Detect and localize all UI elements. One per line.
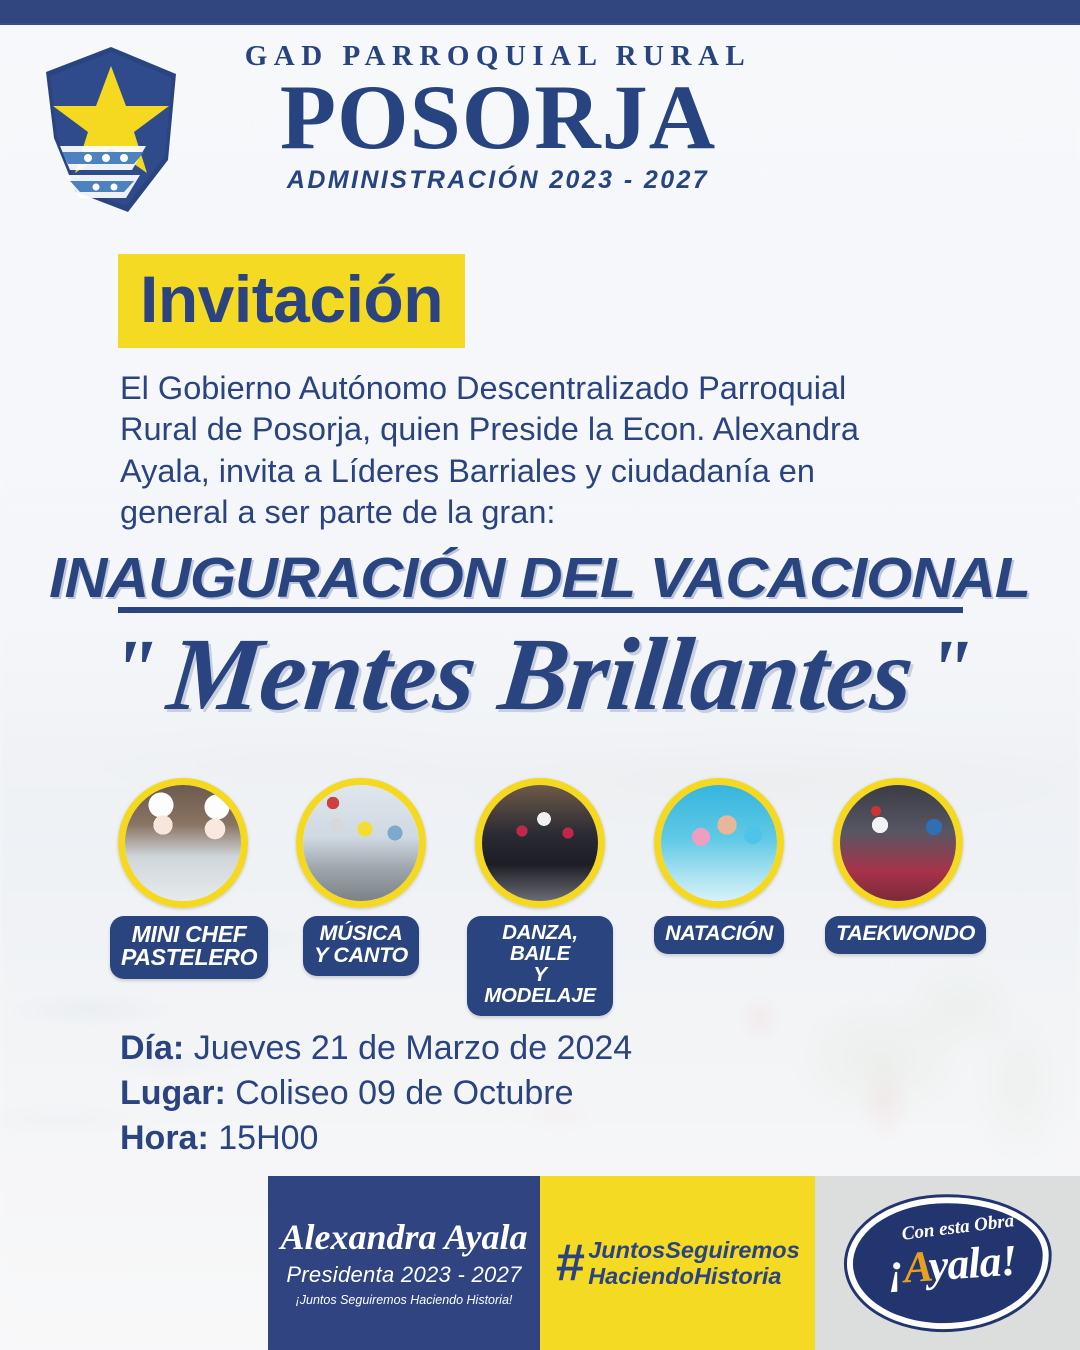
brand-lockup: GAD PARROQUIAL RURAL POSORJA ADMINISTRAC… — [188, 40, 808, 195]
activity-photo-circle — [833, 778, 963, 908]
ayala-sticker-logo: Con esta Obra ¡Ayala! — [853, 1203, 1043, 1323]
detail-value: 15H00 — [218, 1119, 318, 1157]
event-details: Día: Jueves 21 de Marzo de 2024 Lugar: C… — [120, 1026, 632, 1162]
activity-label: DANZA, BAILE Y MODELAJE — [467, 916, 613, 1016]
poster-canvas: GAD PARROQUIAL RURAL POSORJA ADMINISTRAC… — [0, 0, 1080, 1350]
activity-label: NATACIÓN — [654, 916, 784, 954]
invitation-badge-wrap: Invitación — [118, 254, 465, 348]
paragraph-line: Rural de Posorja, quien Preside la Econ.… — [120, 409, 982, 450]
headline-script-wrap: " Mentes Brillantes " — [0, 615, 1080, 734]
detail-row-place: Lugar: Coliseo 09 de Octubre — [120, 1071, 632, 1116]
quote-close-mark: " — [926, 619, 970, 719]
headline-text: INAUGURACIÓN DEL VACACIONAL — [50, 545, 1031, 611]
taekwondo-match-photo — [840, 785, 956, 901]
activity-item[interactable]: DANZA, BAILE Y MODELAJE — [467, 778, 613, 1016]
sticker-suffix: yala! — [927, 1236, 1018, 1291]
hashtag-text: JuntosSeguiremos HaciendoHistoria — [588, 1237, 800, 1290]
quote-open-mark: " — [110, 619, 154, 719]
activity-photo-circle — [118, 778, 248, 908]
headline-primary: INAUGURACIÓN DEL VACACIONAL — [0, 545, 1080, 611]
detail-key: Lugar: — [120, 1074, 226, 1112]
signature-name: Alexandra Ayala — [280, 1219, 527, 1255]
detail-value: Coliseo 09 de Octubre — [235, 1074, 573, 1112]
kids-folk-dance-photo — [482, 785, 598, 901]
detail-value: Jueves 21 de Marzo de 2024 — [194, 1029, 633, 1067]
activity-photo-circle — [654, 778, 784, 908]
sticker-highlight-letter: A — [901, 1242, 929, 1293]
activity-item[interactable]: NATACIÓN — [646, 778, 792, 954]
brand-line-administration: ADMINISTRACIÓN 2023 - 2027 — [188, 166, 808, 195]
activity-item[interactable]: MÚSICA Y CANTO — [288, 778, 434, 976]
paragraph-line: El Gobierno Autónomo Descentralizado Par… — [120, 368, 982, 409]
activity-photo-circle — [475, 778, 605, 908]
invitation-paragraph: El Gobierno Autónomo Descentralizado Par… — [120, 368, 982, 533]
activity-photo-circle — [296, 778, 426, 908]
shield-star-icon — [36, 42, 186, 222]
footer-sticker-panel: Con esta Obra ¡Ayala! — [815, 1176, 1080, 1350]
activity-label: MÚSICA Y CANTO — [303, 916, 419, 976]
footer-hashtag-panel: # JuntosSeguiremos HaciendoHistoria — [540, 1176, 815, 1350]
paragraph-line: Ayala, invita a Líderes Barriales y ciud… — [120, 451, 982, 492]
kids-music-class-photo — [303, 785, 419, 901]
headline-underline-rule — [118, 607, 963, 613]
paragraph-line: general a ser parte de la gran: — [120, 492, 982, 533]
signature-slogan: ¡Juntos Seguiremos Haciendo Historia! — [296, 1293, 513, 1307]
kids-baking-photo — [125, 785, 241, 901]
activities-row: MINI CHEF PASTELERO MÚSICA Y CANTO DANZA… — [110, 778, 990, 988]
program-name-script: Mentes Brillantes — [152, 615, 927, 734]
activity-item[interactable]: MINI CHEF PASTELERO — [110, 778, 256, 979]
footer-bands: Alexandra Ayala Presidenta 2023 - 2027 ¡… — [268, 1176, 1080, 1350]
detail-row-time: Hora: 15H00 — [120, 1116, 632, 1161]
brand-line-posorja: POSORJA — [188, 75, 808, 160]
signature-role: Presidenta 2023 - 2027 — [286, 1262, 521, 1288]
activity-item[interactable]: TAEKWONDO — [825, 778, 971, 954]
top-navy-bar — [0, 0, 1080, 25]
footer-signature-panel: Alexandra Ayala Presidenta 2023 - 2027 ¡… — [268, 1176, 540, 1350]
kids-swimming-pool-photo — [661, 785, 777, 901]
detail-key: Hora: — [120, 1119, 209, 1157]
header: GAD PARROQUIAL RURAL POSORJA ADMINISTRAC… — [0, 34, 1080, 239]
hash-symbol-icon: # — [555, 1240, 584, 1287]
detail-row-day: Día: Jueves 21 de Marzo de 2024 — [120, 1026, 632, 1071]
activity-label: TAEKWONDO — [825, 916, 986, 954]
detail-key: Día: — [120, 1029, 184, 1067]
activity-label: MINI CHEF PASTELERO — [110, 916, 268, 979]
invitation-badge: Invitación — [118, 254, 465, 348]
